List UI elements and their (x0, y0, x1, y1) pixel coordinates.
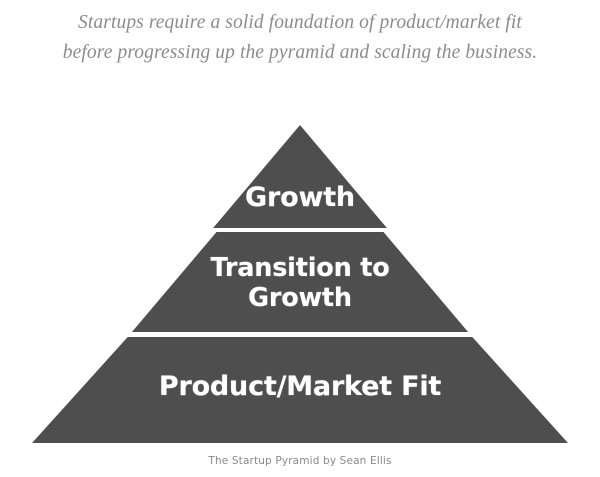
pyramid-tier-pmf-shape[interactable] (32, 337, 568, 443)
diagram-caption: The Startup Pyramid by Sean Ellis (0, 455, 600, 467)
pyramid-tier-growth-shape[interactable] (213, 125, 387, 228)
startup-pyramid-diagram: Growth Transition to Growth Product/Mark… (0, 0, 600, 460)
pyramid-shape (0, 0, 600, 460)
pyramid-tier-transition-shape[interactable] (132, 232, 468, 332)
slide-canvas: Startups require a solid foundation of p… (0, 0, 600, 477)
